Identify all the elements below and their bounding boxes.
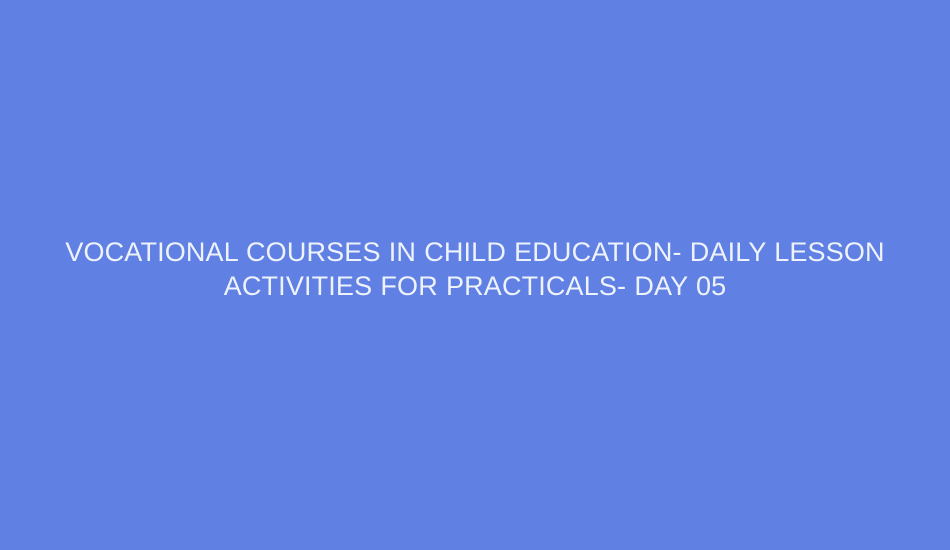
title-card: VOCATIONAL COURSES IN CHILD EDUCATION- D… (0, 0, 950, 550)
title-block: VOCATIONAL COURSES IN CHILD EDUCATION- D… (55, 235, 895, 303)
page-title: VOCATIONAL COURSES IN CHILD EDUCATION- D… (55, 235, 895, 303)
